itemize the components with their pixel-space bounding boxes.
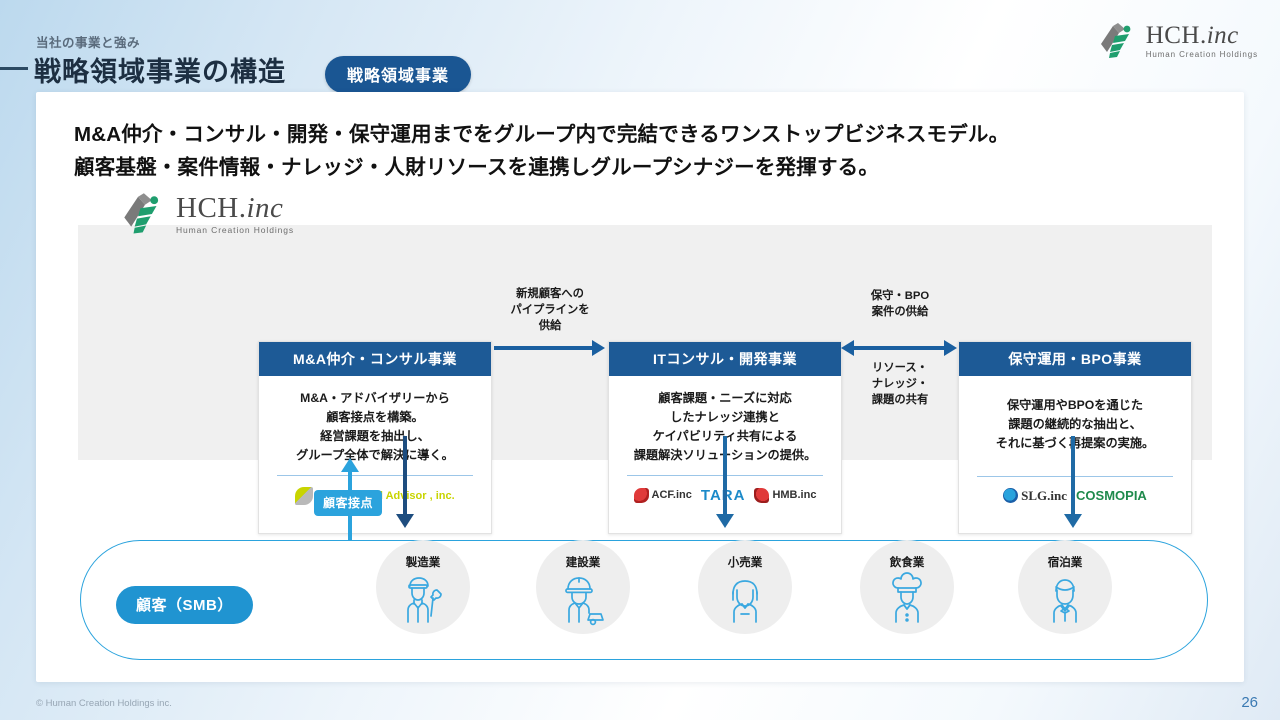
card-divider xyxy=(977,476,1173,477)
header-eyebrow: 当社の事業と強み xyxy=(36,32,140,51)
brand-subtitle: Human Creation Holdings xyxy=(176,226,294,235)
slide-header: 当社の事業と強み 戦略領域事業の構造 戦略領域事業 xyxy=(0,12,1280,82)
lead-statement: M&A仲介・コンサル・開発・保守運用までをグループ内で完結できるワンストップビジ… xyxy=(74,118,1214,184)
company-logo: HMB.inc xyxy=(754,488,816,503)
company-name: ACF.inc xyxy=(652,489,692,501)
arrow-down-head-icon xyxy=(1064,514,1082,528)
arrow-bidirectional-shaft xyxy=(854,346,946,350)
industry-retail[interactable]: 小売業 xyxy=(698,540,792,634)
touchpoint-badge: 顧客接点 xyxy=(314,490,382,516)
factory-worker-icon xyxy=(397,570,449,626)
industry-label: 宿泊業 xyxy=(1018,554,1112,570)
arrow-up-head-icon xyxy=(341,458,359,472)
brand-name: HCH.inc xyxy=(1146,23,1258,48)
hmb-logo-icon xyxy=(754,488,769,503)
hch-logo-mark-icon xyxy=(1099,22,1139,60)
chef-icon xyxy=(881,570,933,626)
hcfa-logo-icon xyxy=(295,487,313,505)
arrow-down-shaft xyxy=(1071,436,1075,516)
company-name: SLG.inc xyxy=(1021,488,1067,504)
arrow-down-head-icon xyxy=(396,514,414,528)
group-logo: HCH.inc Human Creation Holdings xyxy=(122,192,294,236)
arrow-right-head-icon xyxy=(944,340,957,356)
industry-label: 飲食業 xyxy=(860,554,954,570)
customer-segment-badge: 顧客（SMB） xyxy=(116,586,253,624)
card-title: ITコンサル・開発事業 xyxy=(609,342,841,376)
company-logo: ACF.inc xyxy=(634,488,692,503)
header-accent-rule xyxy=(0,67,28,70)
card-divider xyxy=(277,475,473,476)
slide-root: 当社の事業と強み 戦略領域事業の構造 戦略領域事業 HCH.inc Human … xyxy=(0,0,1280,720)
industry-accommodation[interactable]: 宿泊業 xyxy=(1018,540,1112,634)
lead-line-2: 顧客基盤・案件情報・ナレッジ・人財リソースを連携しグループシナジーを発揮する。 xyxy=(74,151,1214,184)
footer-copyright: © Human Creation Holdings inc. xyxy=(36,698,172,709)
industry-construction[interactable]: 建設業 xyxy=(536,540,630,634)
card-description: 保守運用やBPOを通じた 課題の継続的な抽出と、 それに基づく再提案の実施。 xyxy=(959,376,1191,453)
brand-logo: HCH.inc Human Creation Holdings xyxy=(1099,22,1258,60)
arrow-right-shaft xyxy=(494,346,592,350)
lead-line-1: M&A仲介・コンサル・開発・保守運用までをグループ内で完結できるワンストップビジ… xyxy=(74,118,1214,151)
arrow-down-shaft xyxy=(723,436,727,516)
company-name: HMB.inc xyxy=(772,489,816,501)
content-panel: M&A仲介・コンサル・開発・保守運用までをグループ内で完結できるワンストップビジ… xyxy=(36,92,1244,682)
retail-clerk-icon xyxy=(719,570,771,626)
business-card-bpo[interactable]: 保守運用・BPO事業 保守運用やBPOを通じた 課題の継続的な抽出と、 それに基… xyxy=(958,341,1192,534)
hch-logo-mark-icon xyxy=(122,192,168,236)
page-number: 26 xyxy=(1241,694,1258,711)
card-title: M&A仲介・コンサル事業 xyxy=(259,342,491,376)
connector-label-pipeline: 新規顧客への パイプラインを 供給 xyxy=(492,286,608,334)
industry-label: 小売業 xyxy=(698,554,792,570)
card-title: 保守運用・BPO事業 xyxy=(959,342,1191,376)
group-logo-text: HCH.inc Human Creation Holdings xyxy=(176,194,294,235)
card-company-logos: SLG.inc COSMOPIA xyxy=(959,488,1191,504)
industry-manufacturing[interactable]: 製造業 xyxy=(376,540,470,634)
brand-name: HCH.inc xyxy=(176,194,294,223)
card-description: M&A・アドバイザリーから 顧客接点を構築。 経営課題を抽出し、 グループ全体で… xyxy=(259,376,491,465)
brand-subtitle: Human Creation Holdings xyxy=(1146,51,1258,59)
company-logo: SLG.inc xyxy=(1003,488,1067,504)
slg-logo-icon xyxy=(1003,488,1018,503)
page-title: 戦略領域事業の構造 xyxy=(34,50,286,89)
company-logo: COSMOPIA xyxy=(1076,488,1147,503)
connector-label-bpo-supply: 保守・BPO 案件の供給 xyxy=(842,288,958,320)
arrow-left-head-icon xyxy=(841,340,854,356)
industry-restaurant[interactable]: 飲食業 xyxy=(860,540,954,634)
arrow-right-head-icon xyxy=(592,340,605,356)
construction-worker-icon xyxy=(557,570,609,626)
industry-label: 建設業 xyxy=(536,554,630,570)
arrow-down-head-icon xyxy=(716,514,734,528)
status-badge: 戦略領域事業 xyxy=(325,56,471,93)
industry-label: 製造業 xyxy=(376,554,470,570)
brand-text: HCH.inc Human Creation Holdings xyxy=(1146,23,1258,59)
connector-label-resource-share: リソース・ ナレッジ・ 課題の共有 xyxy=(842,360,958,408)
arrow-down-shaft xyxy=(403,436,407,516)
concierge-icon xyxy=(1039,570,1091,626)
company-name: COSMOPIA xyxy=(1076,488,1147,503)
acf-logo-icon xyxy=(634,488,649,503)
